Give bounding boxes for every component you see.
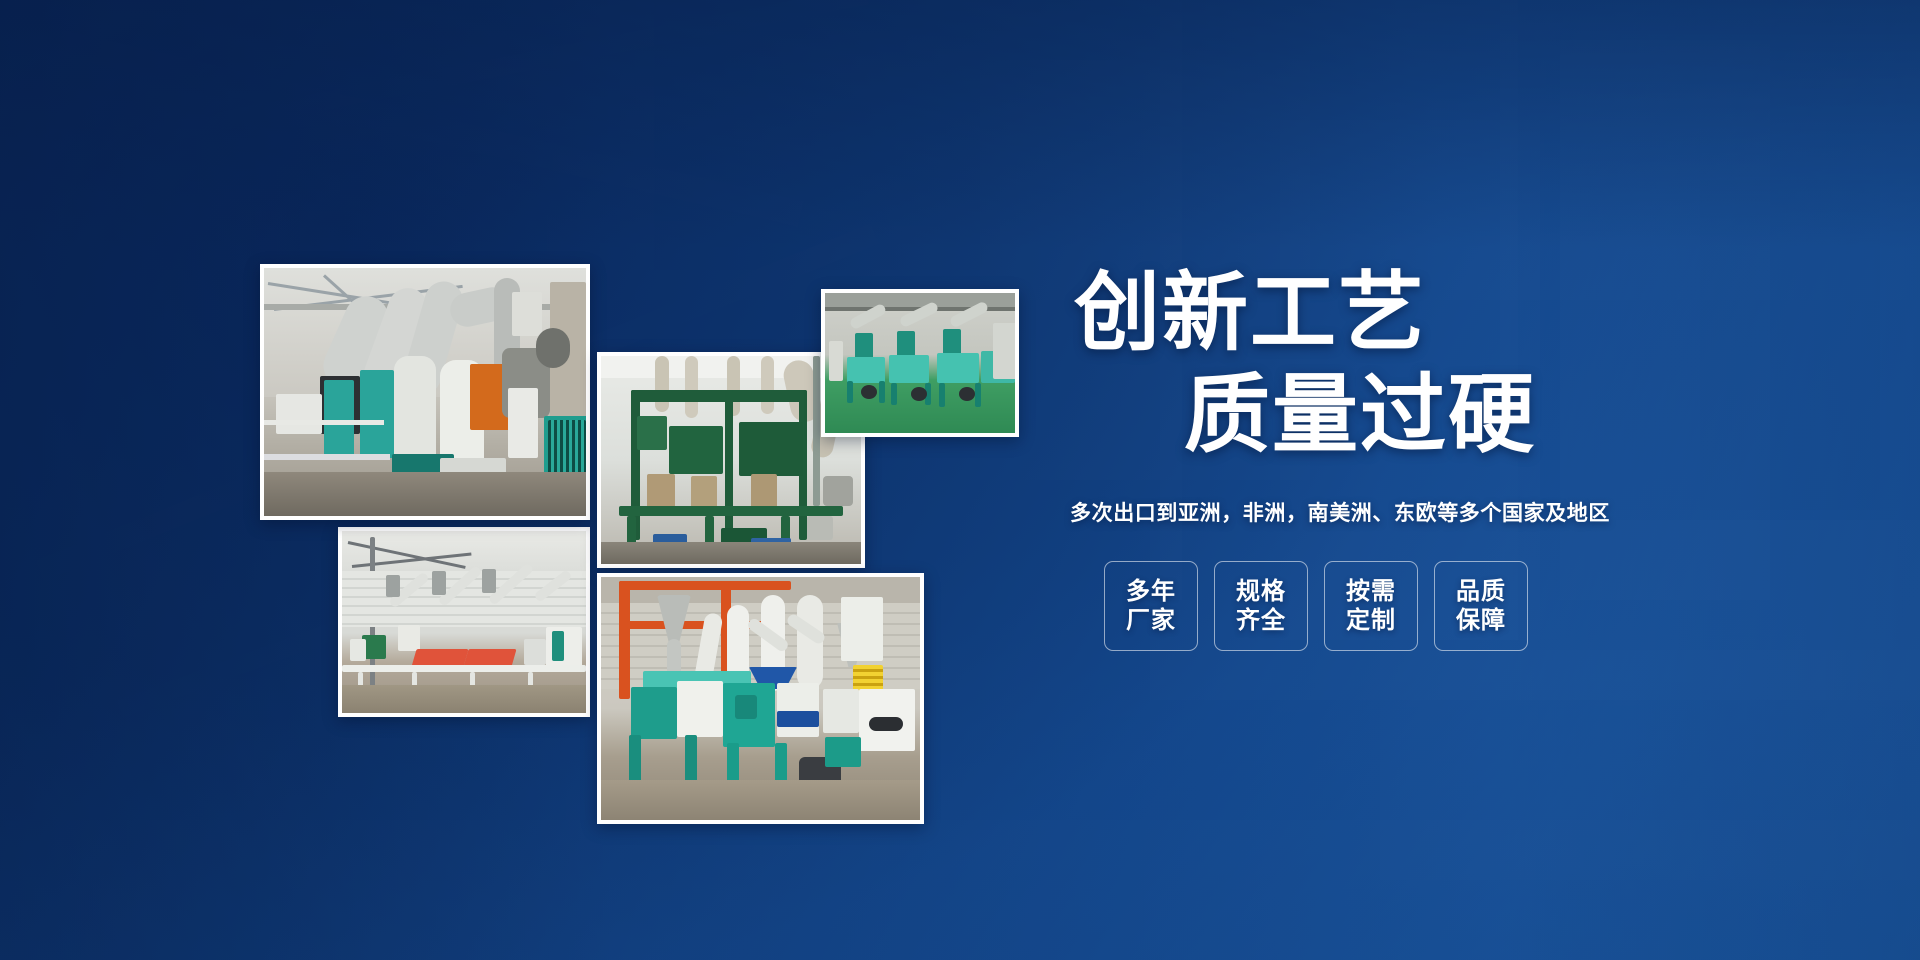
photo-milling-line-with-ducting [260, 264, 590, 520]
headline-line-1: 创新工艺 [1074, 270, 1700, 358]
badge-line-1: 品质 [1456, 577, 1506, 606]
badge-line-1: 多年 [1126, 577, 1176, 606]
photo-teal-milling-machines-green-floor [821, 289, 1019, 437]
badge-line-1: 规格 [1236, 577, 1286, 606]
promo-banner: 创新工艺 质量过硬 多次出口到亚洲，非洲，南美洲、东欧等多个国家及地区 多年 厂… [0, 0, 1920, 960]
badge-full-specifications[interactable]: 规格 齐全 [1214, 561, 1308, 651]
badge-line-1: 按需 [1346, 577, 1396, 606]
badge-line-2: 保障 [1456, 606, 1506, 635]
badge-line-2: 齐全 [1236, 606, 1286, 635]
badge-quality-guarantee[interactable]: 品质 保障 [1434, 561, 1528, 651]
subtitle: 多次出口到亚洲，非洲，南美洲、东欧等多个国家及地区 [1070, 497, 1700, 527]
badge-years-manufacturer[interactable]: 多年 厂家 [1104, 561, 1198, 651]
headline-block: 创新工艺 质量过硬 多次出口到亚洲，非洲，南美洲、东欧等多个国家及地区 多年 厂… [1060, 270, 1700, 651]
badge-line-2: 定制 [1346, 606, 1396, 635]
headline-line-2: 质量过硬 [1184, 372, 1700, 460]
photo-teal-machines-orange-beams [597, 573, 924, 824]
badge-custom-made[interactable]: 按需 定制 [1324, 561, 1418, 651]
feature-badges: 多年 厂家 规格 齐全 按需 定制 品质 保障 [1104, 561, 1700, 651]
photo-production-line-steel-platform [338, 527, 590, 717]
badge-line-2: 厂家 [1126, 606, 1176, 635]
photo-collage [0, 0, 1000, 960]
